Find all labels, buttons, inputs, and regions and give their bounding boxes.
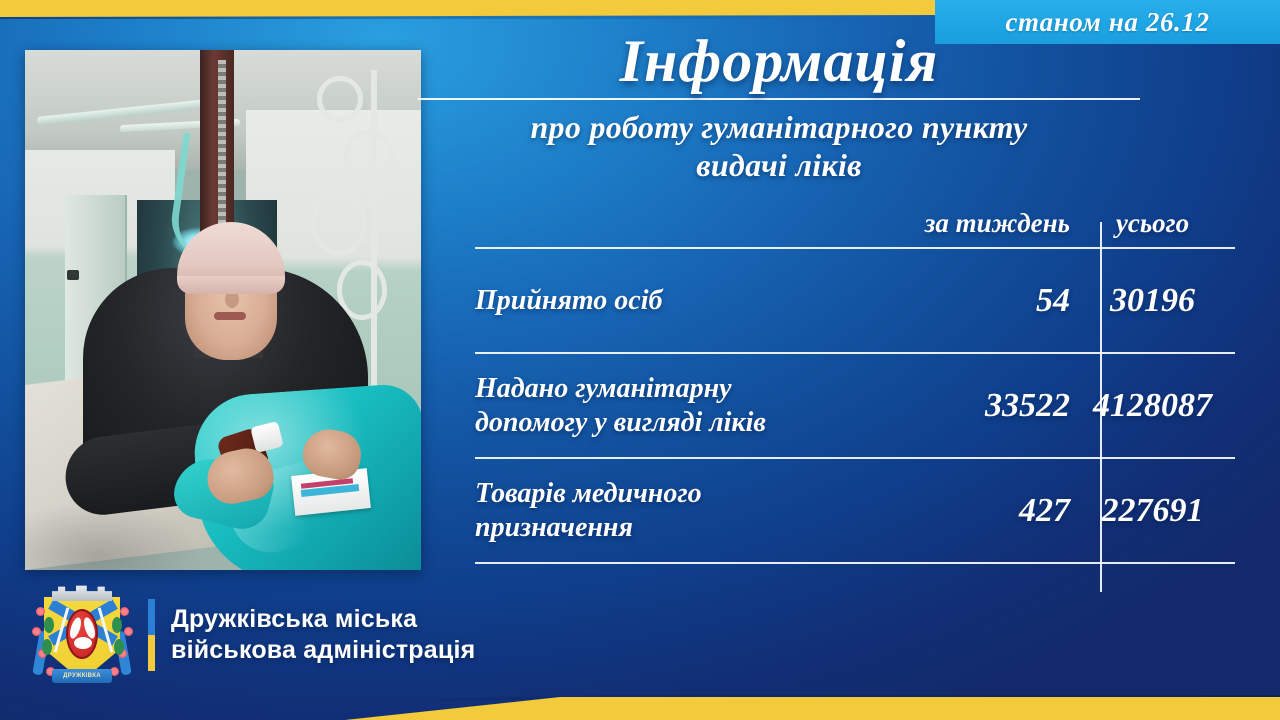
coat-leaf (112, 617, 122, 633)
table-vertical-divider (1100, 222, 1102, 592)
row-week-2: 33522 (895, 354, 1070, 458)
page-subtitle-line-2: видачі ліків (418, 146, 1140, 184)
organization-name-line-2: військова адміністрація (171, 635, 475, 666)
statistics-table-wrapper: за тиждень усього Прийнято осіб 54 30196… (475, 208, 1235, 564)
flag-divider (148, 599, 155, 671)
title-block: Інформація про роботу гуманітарного пунк… (418, 30, 1140, 184)
coat-banner: ДРУЖКІВКА (52, 669, 112, 683)
photo-grille-bar (371, 70, 377, 400)
photo-person-mouth (214, 312, 246, 320)
row-total-2: 4128087 (1070, 354, 1235, 458)
coat-leaf (42, 639, 52, 655)
row-label-3-line-2: призначення (475, 511, 895, 545)
page-title: Інформація (418, 30, 1140, 92)
row-label-3: Товарів медичного призначення (475, 459, 895, 563)
infographic-page: станом на 26.12 (0, 0, 1280, 720)
page-subtitle-line-1: про роботу гуманітарного пункту (418, 108, 1140, 146)
row-label-2-line-2: допомогу у вигляді ліків (475, 406, 895, 440)
statistics-table: за тиждень усього Прийнято осіб 54 30196… (475, 208, 1235, 564)
row-week-3: 427 (895, 459, 1070, 563)
coat-banner-label: ДРУЖКІВКА (63, 673, 101, 679)
organization-name: Дружківська міська військова адміністрац… (171, 604, 475, 666)
coat-swan-base (74, 637, 92, 649)
row-label-1: Прийнято осіб (475, 249, 895, 353)
coat-crown (52, 585, 112, 601)
column-header-total: усього (1070, 208, 1235, 248)
coat-leaf (44, 617, 54, 633)
column-header-week: за тиждень (895, 208, 1070, 248)
row-total-3: 227691 (1070, 459, 1235, 563)
table-row: Прийнято осіб 54 30196 (475, 249, 1235, 353)
bottom-yellow-band (0, 696, 1280, 720)
coat-frame: ДРУЖКІВКА (30, 583, 134, 687)
row-label-1-line-1: Прийнято осіб (475, 284, 895, 318)
row-week-1: 54 (895, 249, 1070, 353)
coat-flower (124, 627, 133, 636)
footer-branding: ДРУЖКІВКА Дружківська міська військова а… (30, 583, 475, 687)
coat-flower (36, 607, 45, 616)
coat-flower (120, 607, 129, 616)
title-divider (418, 98, 1140, 100)
organization-name-line-1: Дружківська міська (171, 604, 475, 635)
row-label-2-line-1: Надано гуманітарну (475, 372, 895, 406)
humanitarian-point-photo (25, 50, 421, 570)
row-total-1: 30196 (1070, 249, 1235, 353)
photo-scene (25, 50, 421, 570)
table-rule-bottom (475, 563, 1235, 564)
photo-person-hat-band (177, 276, 285, 294)
table-row: Надано гуманітарну допомогу у вигляді лі… (475, 354, 1235, 458)
table-row: Товарів медичного призначення 427 227691 (475, 459, 1235, 563)
row-label-3-line-1: Товарів медичного (475, 477, 895, 511)
coat-of-arms-icon: ДРУЖКІВКА (30, 583, 134, 687)
row-label-2: Надано гуманітарну допомогу у вигляді лі… (475, 354, 895, 458)
coat-leaf (114, 639, 124, 655)
column-header-label (475, 208, 895, 248)
table-header-row: за тиждень усього (475, 208, 1235, 248)
coat-flower (32, 627, 41, 636)
photo-door-knob (67, 270, 79, 280)
